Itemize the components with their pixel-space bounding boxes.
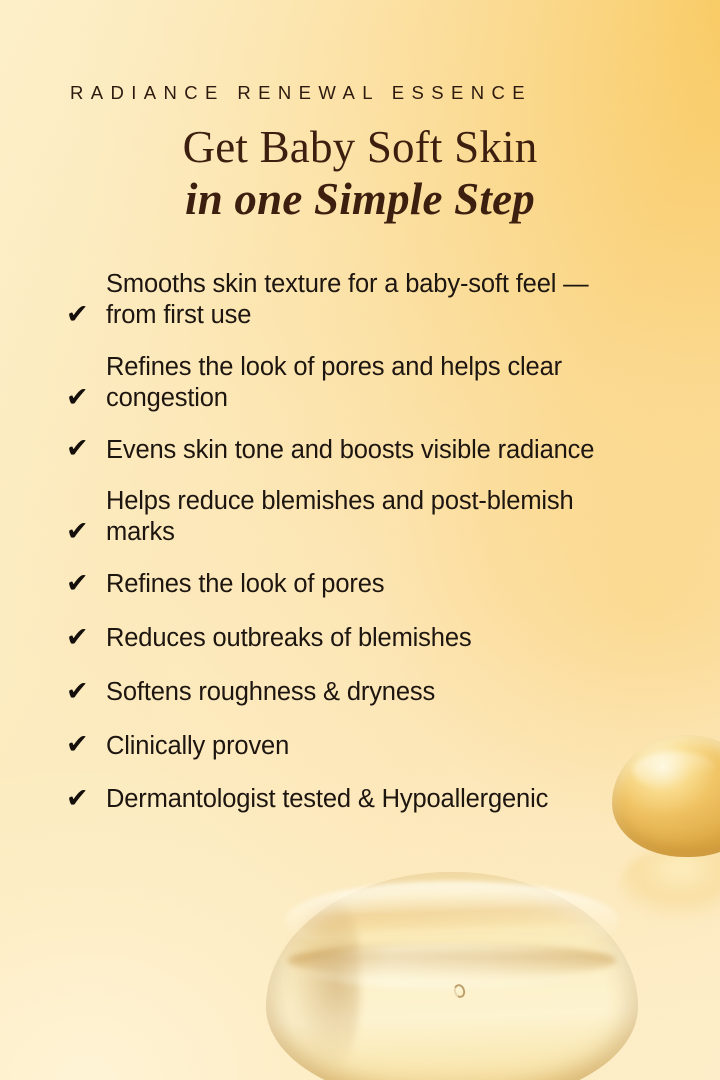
benefit-item: ✔Smooths skin texture for a baby-soft fe…	[66, 269, 676, 331]
headline-line-2: in one Simple Step	[44, 175, 676, 224]
benefit-text: Helps reduce blemishes and post-blemish …	[106, 486, 626, 548]
headline-line-1: Get Baby Soft Skin	[44, 123, 676, 172]
benefit-text: Refines the look of pores and helps clea…	[106, 352, 626, 414]
benefit-item: ✔Reduces outbreaks of blemishes	[66, 623, 676, 654]
benefit-item: ✔Softens roughness & dryness	[66, 677, 676, 708]
page-title: Get Baby Soft Skin in one Simple Step	[44, 123, 676, 223]
checkmark-icon: ✔	[66, 518, 106, 548]
brand-eyebrow: RADIANCE RENEWAL ESSENCE	[70, 82, 676, 104]
benefit-text: Evens skin tone and boosts visible radia…	[106, 435, 594, 466]
benefit-text: Clinically proven	[106, 731, 289, 762]
checkmark-icon: ✔	[66, 785, 106, 815]
benefit-text: Refines the look of pores	[106, 569, 384, 600]
checkmark-icon: ✔	[66, 384, 106, 414]
benefit-text: Softens roughness & dryness	[106, 677, 435, 708]
benefit-item: ✔Evens skin tone and boosts visible radi…	[66, 435, 676, 466]
checkmark-icon: ✔	[66, 435, 106, 465]
checkmark-icon: ✔	[66, 301, 106, 331]
benefit-text: Reduces outbreaks of blemishes	[106, 623, 471, 654]
checkmark-icon: ✔	[66, 731, 106, 761]
benefit-item: ✔Refines the look of pores and helps cle…	[66, 352, 676, 414]
benefit-text: Dermantologist tested & Hypoallergenic	[106, 784, 548, 815]
benefit-item: ✔Refines the look of pores	[66, 569, 676, 600]
checkmark-icon: ✔	[66, 678, 106, 708]
benefit-item: ✔Dermantologist tested & Hypoallergenic	[66, 784, 676, 815]
benefit-item: ✔Helps reduce blemishes and post-blemish…	[66, 486, 676, 548]
benefit-item: ✔Clinically proven	[66, 731, 676, 762]
benefit-text: Smooths skin texture for a baby-soft fee…	[106, 269, 626, 331]
poster-content: RADIANCE RENEWAL ESSENCE Get Baby Soft S…	[0, 0, 720, 1080]
checkmark-icon: ✔	[66, 624, 106, 654]
benefit-list: ✔Smooths skin texture for a baby-soft fe…	[66, 269, 676, 815]
checkmark-icon: ✔	[66, 570, 106, 600]
